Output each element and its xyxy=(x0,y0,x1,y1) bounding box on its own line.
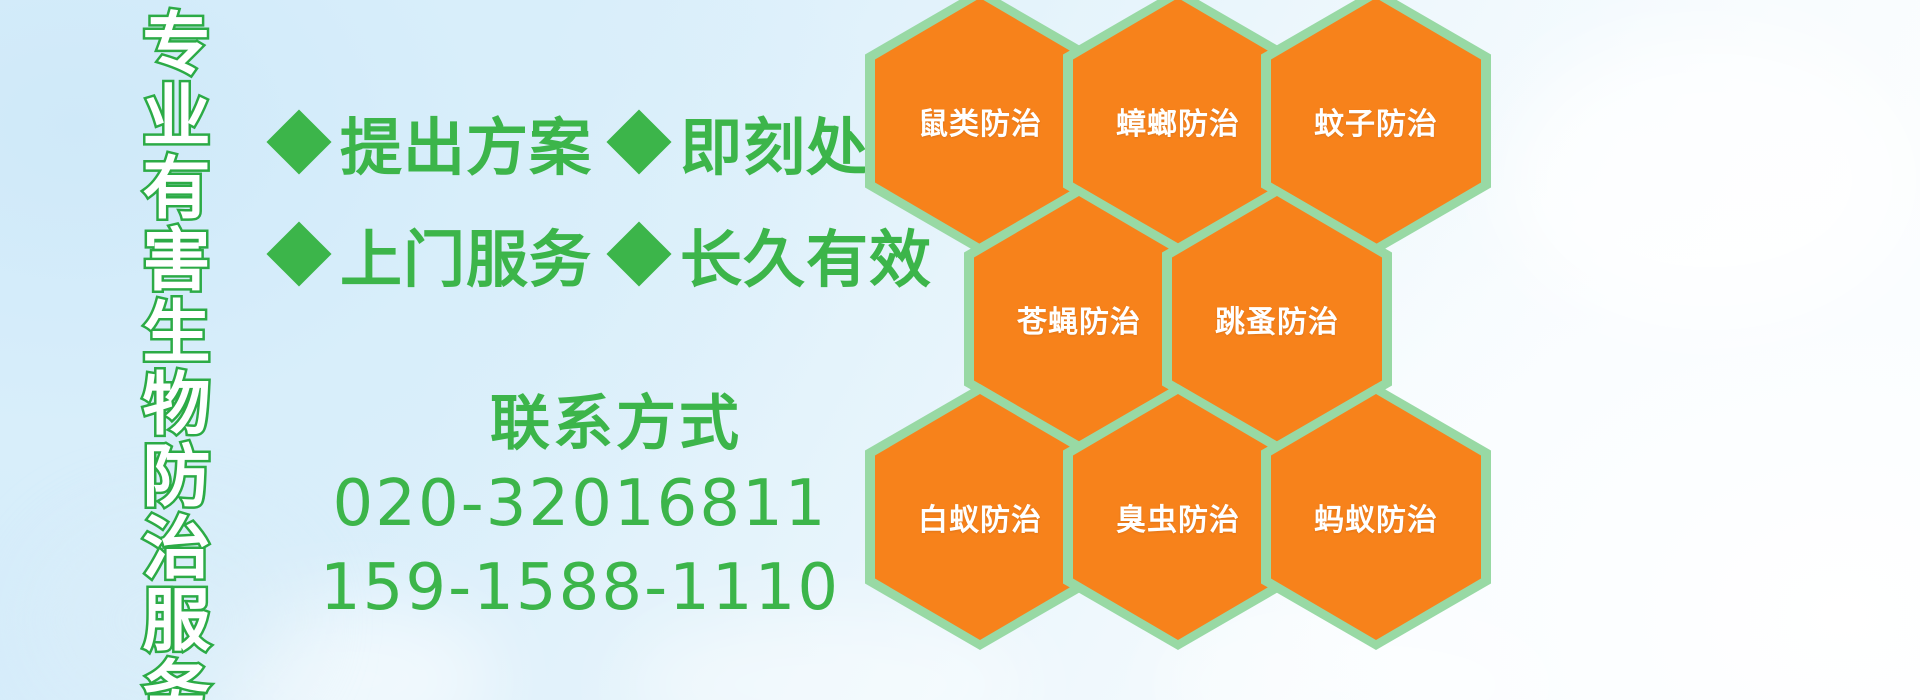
feature-row: 提出方案 即刻处理 xyxy=(276,86,896,198)
feature-label: 上门服务 xyxy=(340,209,592,299)
contact-title: 联系方式 xyxy=(372,390,860,459)
feature-label: 提出方案 xyxy=(340,97,592,187)
feature-row: 上门服务 长久有效 xyxy=(276,198,896,310)
background-blob xyxy=(1500,30,1920,330)
diamond-bullet-icon xyxy=(266,109,331,174)
service-label: 白蚁防治 xyxy=(918,495,1042,539)
diamond-bullet-icon xyxy=(606,221,671,286)
service-label: 苍蝇防治 xyxy=(1017,297,1141,341)
vertical-headline: 专业有害生物防治服务 xyxy=(108,8,204,700)
contact-phone-landline[interactable]: 020-32016811 xyxy=(300,465,860,543)
hexagon-inner: 白蚁防治 xyxy=(875,394,1085,640)
service-hexagon-grid: 鼠类防治 蟑螂防治 蚊子防治 苍蝇防治 跳蚤防治 白蚁防治 xyxy=(845,0,1485,700)
feature-list: 提出方案 即刻处理 上门服务 长久有效 xyxy=(276,86,896,310)
hexagon-inner: 臭虫防治 xyxy=(1073,394,1283,640)
contact-phone-mobile[interactable]: 159-1588-1110 xyxy=(300,549,860,627)
service-label: 鼠类防治 xyxy=(918,99,1042,143)
diamond-bullet-icon xyxy=(606,109,671,174)
service-label: 蚂蚁防治 xyxy=(1314,495,1438,539)
contact-block: 联系方式 020-32016811 159-1588-1110 xyxy=(300,390,860,627)
service-label: 蟑螂防治 xyxy=(1116,99,1240,143)
diamond-bullet-icon xyxy=(266,221,331,286)
hexagon-inner: 蚂蚁防治 xyxy=(1271,394,1481,640)
service-label: 跳蚤防治 xyxy=(1215,297,1339,341)
service-label: 蚊子防治 xyxy=(1314,99,1438,143)
service-label: 臭虫防治 xyxy=(1116,495,1240,539)
pest-control-service-banner: 专业有害生物防治服务 提出方案 即刻处理 上门服务 长久有效 联系方式 020-… xyxy=(0,0,1920,700)
